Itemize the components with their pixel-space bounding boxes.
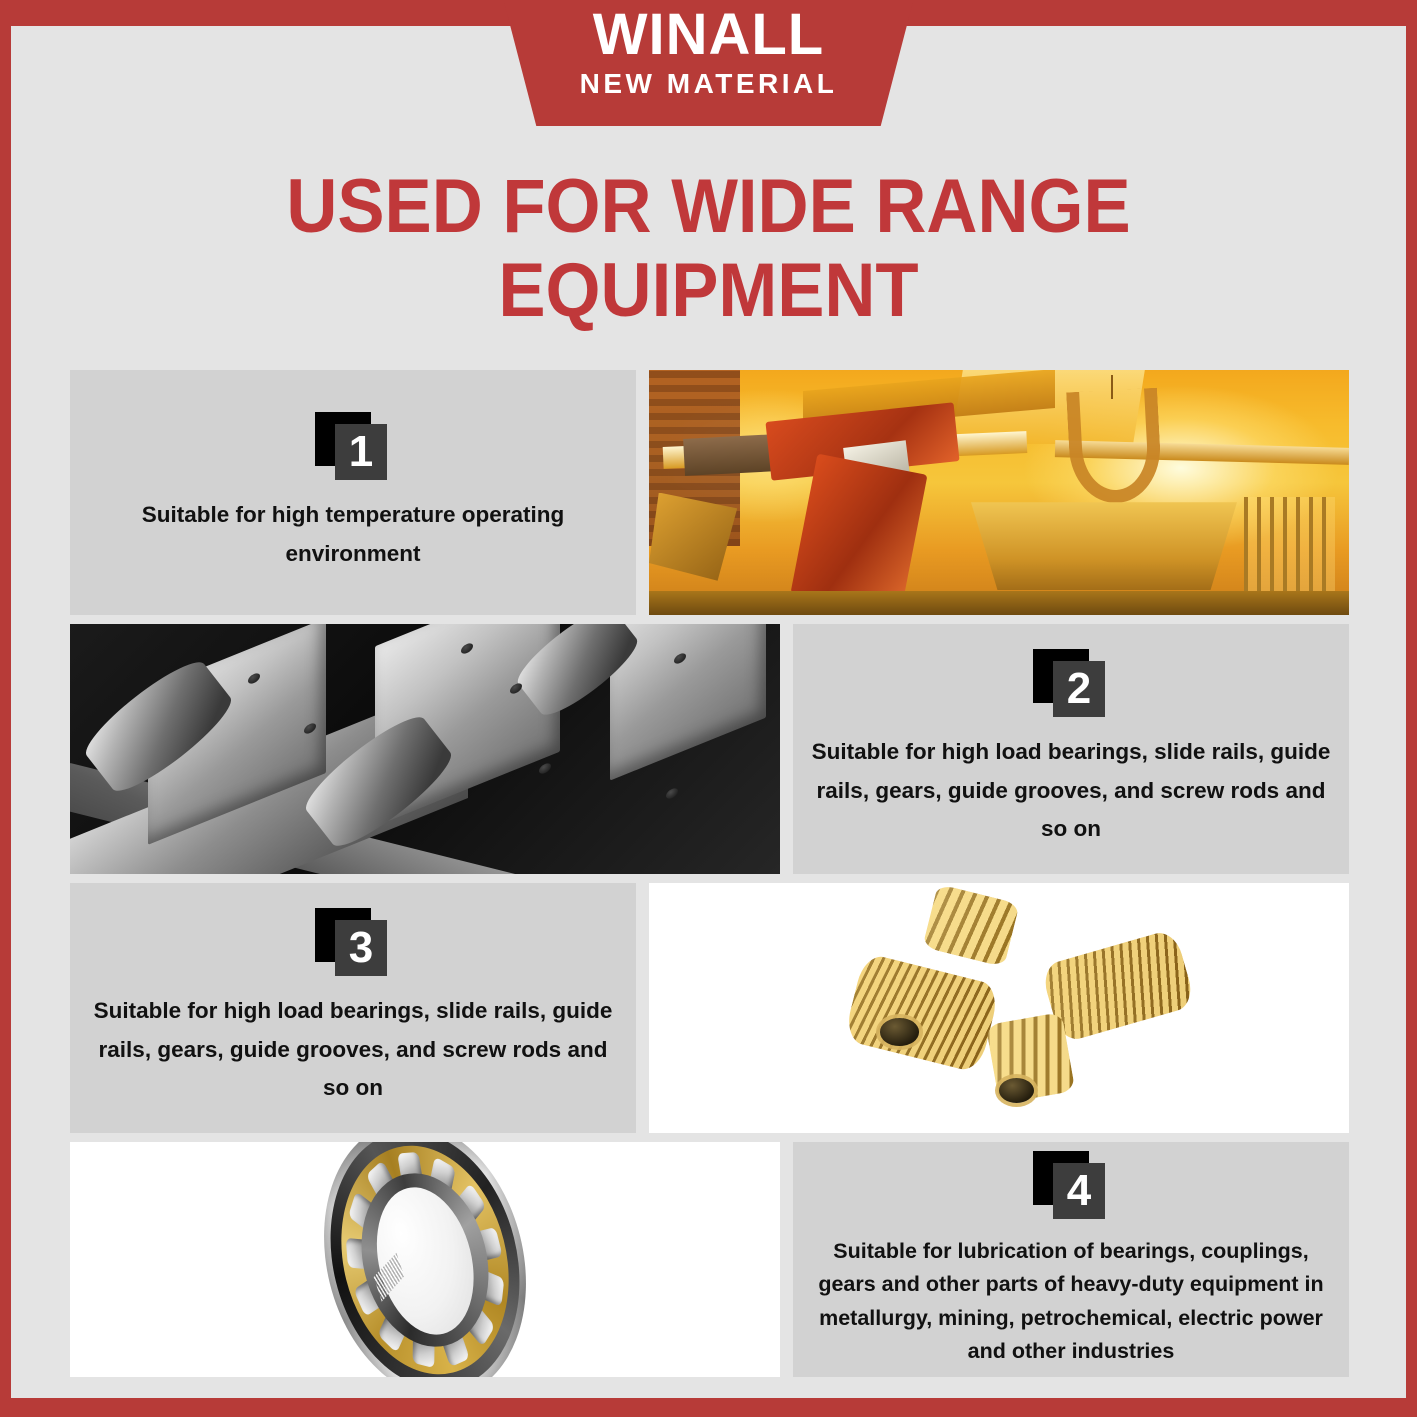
badge-front-square-icon: 1 — [335, 424, 387, 480]
furnace-hook-icon — [1066, 387, 1163, 504]
feature-row-3: 3 Suitable for high load bearings, slide… — [70, 883, 1349, 1133]
badge-number-1: 1 — [349, 430, 373, 474]
badge-front-square-icon: 3 — [335, 920, 387, 976]
feature-caption-4: Suitable for lubrication of bearings, co… — [811, 1235, 1331, 1368]
page-title-line-2: EQUIPMENT — [50, 249, 1368, 333]
block-bolt-hole-icon — [539, 762, 551, 776]
furnace-floor-icon — [649, 591, 1349, 616]
spherical-roller-bearing-icon — [255, 1142, 594, 1377]
brand-tagline: NEW MATERIAL — [580, 70, 838, 98]
brand-banner: WINALL NEW MATERIAL — [504, 0, 914, 126]
number-badge-3: 3 — [315, 908, 391, 978]
feature-text-1: 1 Suitable for high temperature operatin… — [70, 370, 636, 615]
brass-bore-right-icon — [999, 1078, 1034, 1103]
poster-page: WINALL NEW MATERIAL USED FOR WIDE RANGE … — [0, 0, 1417, 1417]
badge-front-square-icon: 4 — [1053, 1163, 1105, 1219]
badge-number-2: 2 — [1067, 667, 1091, 711]
feature-text-2: 2 Suitable for high load bearings, slide… — [793, 624, 1349, 874]
feature-row-2: 2 Suitable for high load bearings, slide… — [70, 624, 1349, 874]
feature-row-1: 1 Suitable for high temperature operatin… — [70, 370, 1349, 615]
badge-number-3: 3 — [349, 926, 373, 970]
feature-row-4: 4 Suitable for lubrication of bearings, … — [70, 1142, 1349, 1377]
number-badge-2: 2 — [1033, 649, 1109, 719]
number-badge-1: 1 — [315, 412, 391, 482]
feature-caption-1: Suitable for high temperature operating … — [88, 496, 618, 573]
feature-image-2 — [70, 624, 780, 874]
badge-number-4: 4 — [1067, 1169, 1091, 1213]
feature-image-4 — [70, 1142, 780, 1377]
brass-bore-left-icon — [880, 1018, 919, 1046]
feature-caption-2: Suitable for high load bearings, slide r… — [811, 733, 1331, 849]
badge-front-square-icon: 2 — [1053, 661, 1105, 717]
page-title: USED FOR WIDE RANGE EQUIPMENT — [0, 165, 1417, 332]
page-title-line-1: USED FOR WIDE RANGE — [50, 165, 1368, 249]
brand-name: WINALL — [593, 6, 825, 64]
block-bolt-hole-icon — [666, 787, 678, 801]
feature-image-1 — [649, 370, 1349, 615]
feature-image-3 — [649, 883, 1349, 1133]
feature-grid: 1 Suitable for high temperature operatin… — [70, 370, 1349, 1380]
feature-text-3: 3 Suitable for high load bearings, slide… — [70, 883, 636, 1133]
furnace-grate-icon — [1244, 497, 1335, 600]
feature-caption-3: Suitable for high load bearings, slide r… — [88, 992, 618, 1108]
furnace-ladle-bin-icon — [971, 502, 1237, 590]
feature-text-4: 4 Suitable for lubrication of bearings, … — [793, 1142, 1349, 1377]
number-badge-4: 4 — [1033, 1151, 1109, 1221]
